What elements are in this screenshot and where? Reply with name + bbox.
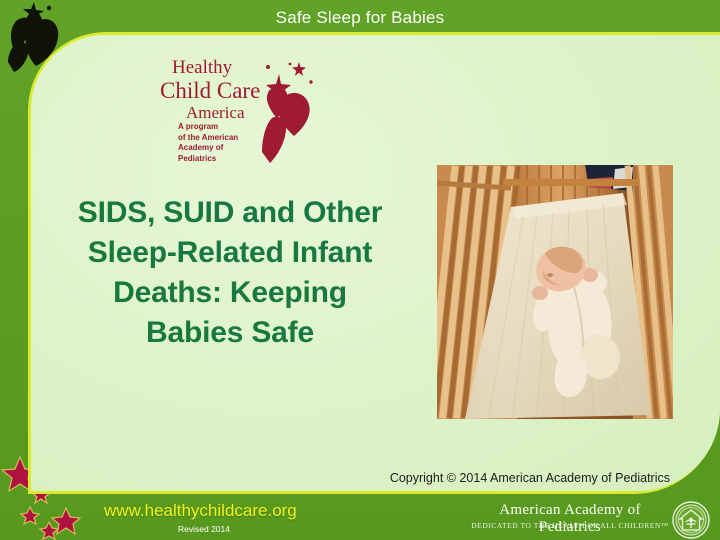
title-line-2: Sleep-Related Infant xyxy=(34,233,426,273)
slide-canvas: Safe Sleep for Babies Healthy Child Care… xyxy=(0,0,720,540)
aap-seal-icon xyxy=(672,501,710,539)
hcca-child-heart-star-icon xyxy=(252,60,316,168)
title-line-1: SIDS, SUID and Other xyxy=(34,193,426,233)
safe-sleep-crib-photo xyxy=(437,165,673,419)
header-title: Safe Sleep for Babies xyxy=(0,8,720,28)
copyright-text: Copyright © 2014 American Academy of Ped… xyxy=(280,471,670,485)
website-url-link[interactable]: www.healthychildcare.org xyxy=(104,501,297,521)
aap-tagline: DEDICATED TO THE HEALTH OF ALL CHILDREN™ xyxy=(470,521,670,530)
healthy-child-care-america-logo: Healthy Child Care America A program of … xyxy=(160,58,315,170)
title-line-3: Deaths: Keeping xyxy=(34,273,426,313)
title-line-4: Babies Safe xyxy=(34,313,426,353)
page-title: SIDS, SUID and Other Sleep-Related Infan… xyxy=(34,193,426,353)
aap-name: American Academy of Pediatrics xyxy=(470,502,670,536)
revised-note: Revised 2014 xyxy=(178,524,230,534)
aap-footer-logo: American Academy of Pediatrics DEDICATED… xyxy=(470,500,720,540)
